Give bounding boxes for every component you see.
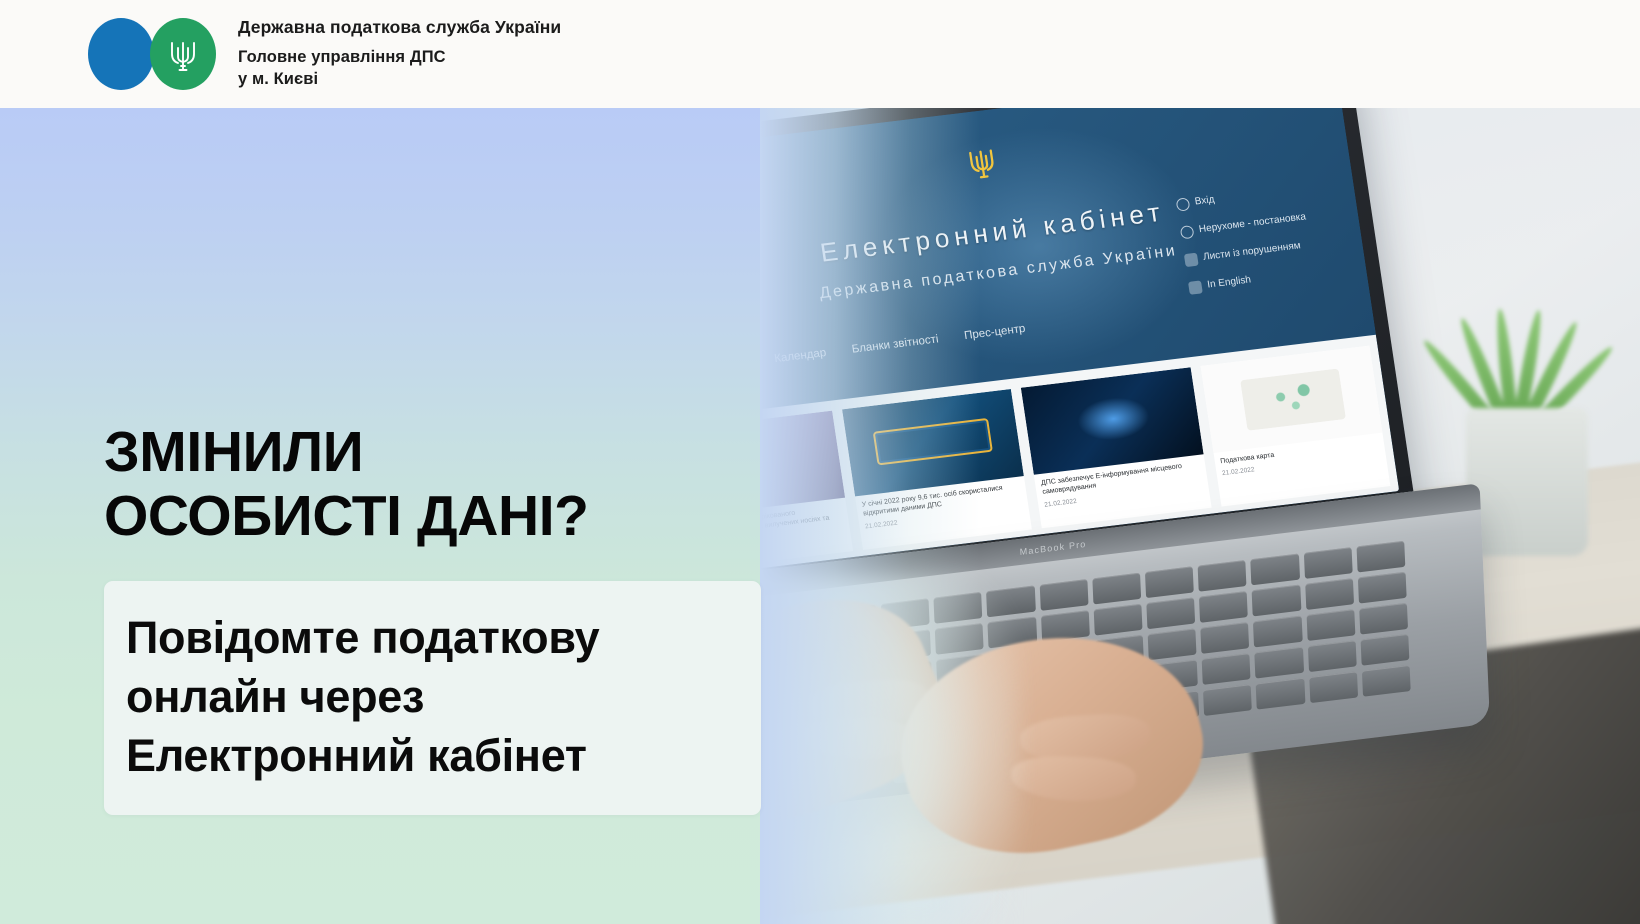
login-icon	[1175, 198, 1190, 212]
poster-page: Державна податкова служба України Головн…	[0, 0, 1640, 924]
device-label: MacBook Pro	[1019, 539, 1086, 557]
logo-blue-circle-icon	[88, 18, 154, 90]
headline-line-1: ЗМІНИЛИ	[104, 420, 363, 484]
organization-title: Державна податкова служба України	[238, 17, 561, 38]
organization-name-block: Державна податкова служба України Головн…	[238, 17, 561, 91]
translate-icon	[1188, 281, 1203, 295]
organization-subtitle: Головне управління ДПС у м. Києві	[238, 47, 561, 91]
poster-content: ЗМІНИЛИ ОСОБИСТІ ДАНІ? Повідомте податко…	[104, 421, 804, 815]
news-card[interactable]: Податкова карта 21.02.2022	[1200, 345, 1390, 506]
screen-sidebar[interactable]: Вхід Нерухоме - постановка Листи із пору…	[1175, 180, 1348, 295]
trident-icon	[167, 36, 199, 76]
message-card-line-1: Повідомте податкову	[126, 609, 731, 668]
message-card: Повідомте податкову онлайн через Електро…	[104, 581, 761, 816]
page-title: ЗМІНИЛИ ОСОБИСТІ ДАНІ?	[104, 421, 804, 549]
sidebar-item-letters[interactable]: Листи із порушенням	[1184, 235, 1345, 267]
workspace-photo: Електронний кабінет Державна податкова с…	[760, 108, 1640, 924]
site-header: Державна податкова служба України Головн…	[0, 0, 1640, 108]
sidebar-item-login-label: Вхід	[1194, 195, 1215, 210]
message-card-line-2: онлайн через	[126, 668, 731, 727]
organization-subtitle-line1: Головне управління ДПС	[238, 48, 446, 66]
plant-pot	[1466, 408, 1588, 556]
poster-backdrop: Електронний кабінет Державна податкова с…	[0, 108, 1640, 924]
organization-subtitle-line2: у м. Києві	[238, 70, 318, 88]
mail-icon	[1184, 253, 1199, 267]
sidebar-item-property[interactable]: Нерухоме - постановка	[1179, 208, 1340, 240]
message-card-line-3: Електронний кабінет	[126, 727, 731, 786]
organization-logo	[88, 18, 220, 90]
info-icon	[1179, 225, 1194, 239]
sidebar-item-property-label: Нерухоме - постановка	[1198, 212, 1307, 237]
sidebar-item-letters-label: Листи із порушенням	[1202, 240, 1301, 264]
headline-line-2: ОСОБИСТІ ДАНІ?	[104, 485, 804, 549]
news-card[interactable]: ДПС забезпечує Е-інформування місцевого …	[1021, 367, 1211, 528]
